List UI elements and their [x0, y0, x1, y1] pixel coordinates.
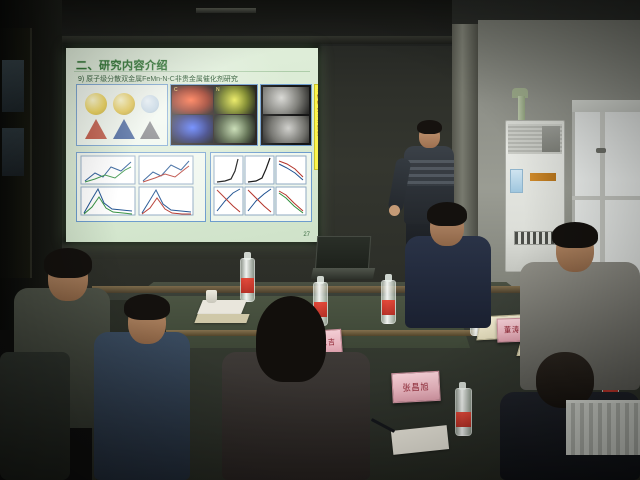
bottle-label: [456, 412, 471, 427]
attendee-hair: [44, 248, 92, 278]
wall-poster-upper: [2, 60, 24, 112]
attendee-hair: [256, 296, 326, 382]
attendee-torso: [94, 332, 190, 480]
cup[interactable]: [206, 290, 217, 303]
presenter-hand: [389, 205, 400, 216]
window-mullion-horizontal: [572, 196, 640, 200]
water-bottle[interactable]: [381, 280, 396, 324]
water-bottle[interactable]: [455, 388, 472, 436]
window-handle[interactable]: [596, 148, 606, 153]
bottle-label: [241, 278, 254, 293]
attendee-hair: [124, 294, 170, 320]
attendee-hair: [552, 222, 598, 248]
ac-sticker: [510, 169, 523, 193]
nameplate-text: 张昌旭: [402, 380, 430, 394]
projection-screen: 二、研究内容介绍 9) 原子级分散双金属FeMn-N-C非贵金属催化剂研究 C …: [66, 48, 318, 242]
radiator: [566, 400, 640, 455]
attendee-hair: [427, 202, 467, 226]
presenter-hair: [417, 120, 442, 134]
paper-sheet[interactable]: [197, 300, 247, 314]
ac-brand-label: [530, 173, 556, 181]
chair-back-left[interactable]: [0, 352, 70, 480]
water-bottle[interactable]: [240, 258, 255, 302]
paper-stack[interactable]: [194, 314, 249, 323]
presenter-shirt-stripes: [404, 160, 454, 186]
ac-control-panel[interactable]: [542, 126, 560, 152]
screen-glare: [66, 48, 318, 242]
laptop-screen[interactable]: [315, 236, 372, 272]
bottle-label: [382, 300, 395, 315]
ceiling-lamp: [196, 8, 256, 13]
conference-room-scene: 二、研究内容介绍 9) 原子级分散双金属FeMn-N-C非贵金属催化剂研究 C …: [0, 0, 640, 480]
nameplate-front-center: 张昌旭: [391, 371, 441, 403]
wall-poster-lower: [2, 128, 24, 176]
ac-pipe: [518, 96, 525, 122]
attendee-torso: [405, 236, 491, 328]
